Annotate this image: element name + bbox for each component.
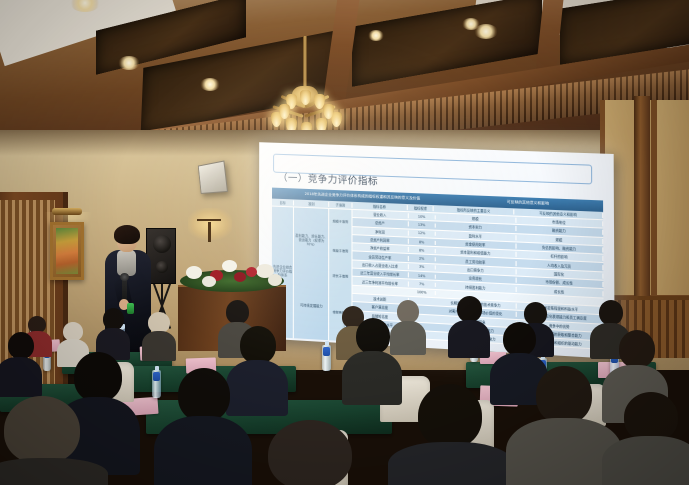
wall-column <box>634 96 650 306</box>
col-weight-header: 指标权重 <box>408 205 434 211</box>
person-head <box>4 396 80 464</box>
person-head <box>536 366 592 424</box>
flower-white <box>268 274 282 286</box>
person-shoulders <box>602 436 689 485</box>
cell-weight: 10% <box>409 214 436 219</box>
col-criteria-header: 准则 <box>294 200 329 206</box>
wall-sconce-arm <box>197 219 221 221</box>
chandelier-lamp-icon <box>279 104 290 119</box>
person-head <box>148 312 170 333</box>
person-head <box>74 352 122 402</box>
speaker-tweeter-icon <box>156 261 168 273</box>
cell-total-weight: 100% <box>409 290 436 295</box>
audience-member <box>96 308 130 358</box>
cell-indicator: 总资产 <box>352 219 408 226</box>
recessed-downlight-icon <box>118 56 140 70</box>
cell-weight: 14% <box>409 273 436 278</box>
criteria-cell-financial: 盈利能力、增长能力、营运能力（权重为70%） <box>294 207 329 275</box>
cell-weight: 7% <box>409 282 436 287</box>
audience-member <box>516 366 612 485</box>
cell-weight: 13% <box>409 222 436 227</box>
person-shoulders <box>388 442 514 485</box>
cell-weight: 8% <box>409 248 436 253</box>
recessed-downlight-icon <box>200 78 220 91</box>
conference-photo: （一）竞争力评价指标 2018年先进企业竞争力评价体系构成的指标权重和其反映的意… <box>0 0 689 485</box>
cell-indicator: 净资产收益率 <box>352 245 408 253</box>
flower-white <box>186 266 202 279</box>
person-shoulders <box>0 357 42 397</box>
audience-member <box>142 312 176 360</box>
cell-weight: 8% <box>409 239 436 244</box>
wall-mounted-speaker <box>198 160 228 194</box>
projection-screen: （一）竞争力评价指标 2018年先进企业竞争力评价体系构成的指标权重和其反映的意… <box>259 142 615 359</box>
painting-artwork <box>56 228 78 274</box>
person-head <box>226 300 249 324</box>
person-head <box>356 318 390 354</box>
cell-weight: 2% <box>409 256 436 261</box>
cell-indicator: 总资产利润率 <box>352 236 408 244</box>
wall-panel <box>652 100 689 300</box>
col-subcriteria-header: 子准则 <box>330 202 353 208</box>
flower-red <box>246 267 257 277</box>
person-shoulders <box>142 331 176 361</box>
flower-red <box>234 272 246 282</box>
presenter-scarf <box>117 250 136 276</box>
person-shoulders <box>154 416 252 485</box>
audience-member <box>344 318 400 402</box>
cell-indicator: 出口收入占营业收入比重 <box>352 261 408 269</box>
audience-member <box>0 396 100 485</box>
person-head <box>268 420 352 485</box>
cell-blank <box>352 289 408 292</box>
person-shoulders <box>0 458 108 485</box>
person-head <box>8 332 34 359</box>
slide-title: （一）竞争力评价指标 <box>278 170 378 188</box>
cell-indicator: 营业收入 <box>352 211 408 218</box>
person-head <box>619 330 655 368</box>
cell-weight: 12% <box>409 231 436 236</box>
person-shoulders <box>342 351 402 405</box>
framed-painting <box>50 222 84 280</box>
subcriteria-benefit: 效益子准则 <box>330 234 353 268</box>
recessed-downlight-icon <box>474 24 498 39</box>
picture-light <box>52 208 82 215</box>
subcriteria-growth: 增长子准则 <box>330 267 353 285</box>
person-head <box>503 322 536 356</box>
audience-member <box>448 296 490 356</box>
recessed-downlight-icon <box>368 30 384 41</box>
cell-indicator: 净利润 <box>352 228 408 236</box>
cell-indicator: 全员劳动生产率 <box>352 253 408 261</box>
audience-member <box>0 332 42 394</box>
person-head <box>599 300 623 325</box>
person-shoulders <box>448 320 490 358</box>
microphone-head-icon <box>120 273 129 281</box>
presenter-hair <box>114 225 140 244</box>
flower-white <box>222 260 237 272</box>
person-head <box>103 308 124 330</box>
audience-member <box>160 368 246 485</box>
col-indicator-header: 指标名称 <box>352 203 408 210</box>
criteria-cell-nonfinancial: 可持续发展能力 <box>294 274 329 340</box>
person-head <box>457 296 482 322</box>
audience-member <box>250 420 374 485</box>
flower-white <box>202 276 216 287</box>
audience-member <box>608 392 689 485</box>
cell-weight: 3% <box>409 265 436 270</box>
person-head <box>178 368 230 422</box>
water-bottle <box>322 345 331 371</box>
person-head <box>397 300 419 323</box>
audience-member <box>396 384 506 485</box>
flower-arrangement <box>176 258 288 294</box>
col-objective-header: 目标 <box>272 200 294 206</box>
presentation-slide: （一）竞争力评价指标 2018年先进企业竞争力评价体系构成的指标权重和其反映的意… <box>259 142 615 359</box>
person-head <box>418 384 482 448</box>
wall-sconce-stem <box>208 222 211 242</box>
person-head <box>624 392 678 442</box>
person-head <box>240 326 276 364</box>
subcriteria-scale: 规模子准则 <box>330 209 353 235</box>
